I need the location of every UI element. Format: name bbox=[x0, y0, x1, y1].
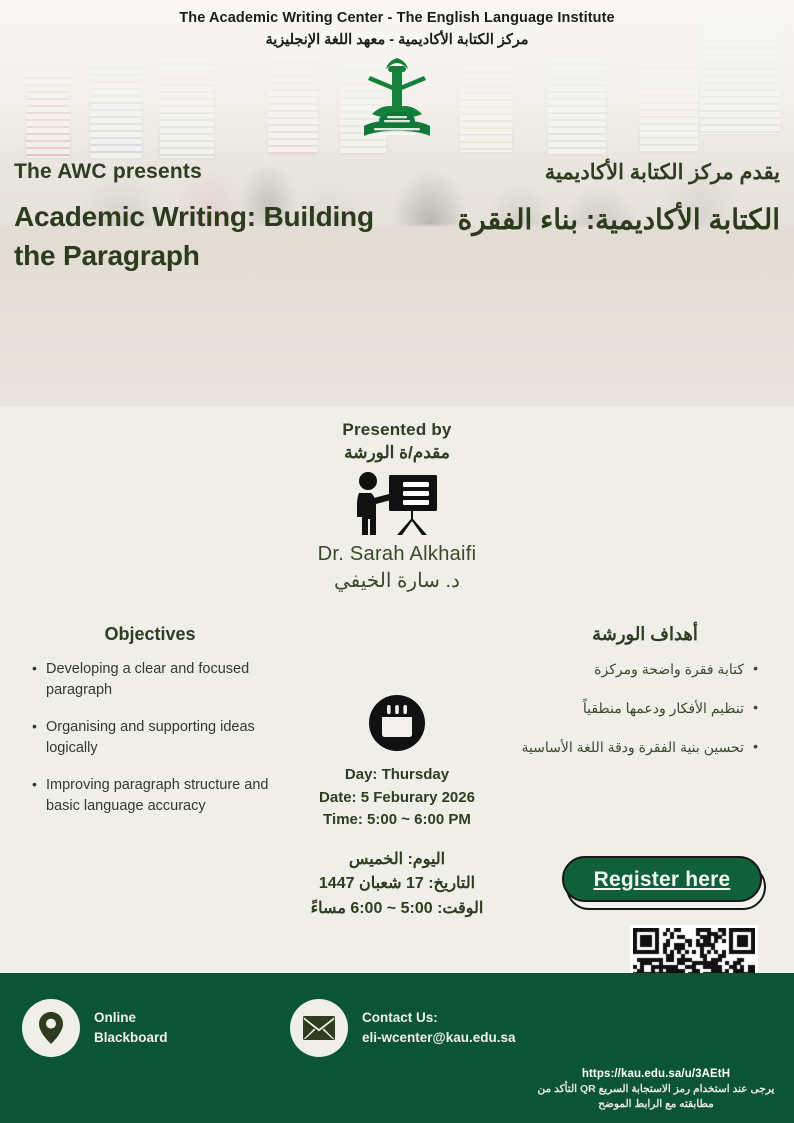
map-pin-icon bbox=[22, 999, 80, 1057]
hero-text-ar: يقدم مركز الكتابة الأكاديمية الكتابة الأ… bbox=[450, 160, 780, 240]
time-en: Time: 5:00 ~ 6:00 PM bbox=[267, 809, 527, 832]
objective-item: Improving paragraph structure and basic … bbox=[32, 775, 276, 817]
presented-by-label-ar: مقدم/ة الورشة bbox=[0, 443, 794, 463]
poster-body: Presented by مقدم/ة الورشة Dr. Sarah Alk… bbox=[0, 406, 794, 973]
objective-item: تنظيم الأفكار ودعمها منطقياً bbox=[514, 698, 758, 719]
poster-footer: Online Blackboard Contact Us: eli-wcente… bbox=[0, 973, 794, 1123]
envelope-icon bbox=[290, 999, 348, 1057]
presents-label-ar: يقدم مركز الكتابة الأكاديمية bbox=[450, 160, 780, 185]
register-button-wrapper: Register here bbox=[562, 856, 772, 902]
contact-email[interactable]: eli-wcenter@kau.edu.sa bbox=[362, 1028, 515, 1048]
objective-item: Organising and supporting ideas logicall… bbox=[32, 717, 276, 759]
location-info: Online Blackboard bbox=[22, 999, 168, 1057]
objectives-en-section: Objectives Developing a clear and focuse… bbox=[14, 624, 276, 833]
register-button[interactable]: Register here bbox=[562, 856, 762, 902]
qr-note-block: https://kau.edu.sa/u/3AEtH يرجى عند استخ… bbox=[536, 1068, 776, 1112]
objectives-title-ar: أهداف الورشة bbox=[514, 624, 776, 645]
objectives-list-en: Developing a clear and focused paragraph… bbox=[14, 659, 276, 817]
objective-item: تحسين بنية الفقرة ودقة اللغة الأساسية bbox=[514, 737, 758, 758]
schedule-block: Day: Thursday Date: 5 Feburary 2026 Time… bbox=[267, 694, 527, 922]
qr-verification-note-ar: يرجى عند استخدام رمز الاستجابة السريع QR… bbox=[536, 1082, 776, 1112]
schedule-en: Day: Thursday Date: 5 Feburary 2026 Time… bbox=[267, 764, 527, 832]
hero-banner: The Academic Writing Center - The Englis… bbox=[0, 0, 794, 406]
contact-label: Contact Us: bbox=[362, 1008, 515, 1028]
time-ar: الوقت: 5:00 ~ 6:00 مساءً bbox=[267, 897, 527, 922]
objectives-title-en: Objectives bbox=[14, 624, 276, 645]
presenter-name-ar: د. سارة الخيفي bbox=[0, 568, 794, 593]
date-ar: التاريخ: 17 شعبان 1447 bbox=[267, 872, 527, 897]
location-text: Online Blackboard bbox=[94, 1008, 168, 1047]
hero-text-en: The AWC presents Academic Writing: Build… bbox=[14, 160, 374, 275]
workshop-title-ar: الكتابة الأكاديمية: بناء الفقرة bbox=[450, 199, 780, 240]
presented-by-label-en: Presented by bbox=[0, 420, 794, 440]
schedule-ar: اليوم: الخميس التاريخ: 17 شعبان 1447 الو… bbox=[267, 848, 527, 922]
day-ar: اليوم: الخميس bbox=[267, 848, 527, 873]
contact-text: Contact Us: eli-wcenter@kau.edu.sa bbox=[362, 1008, 515, 1047]
location-line-1: Online bbox=[94, 1008, 168, 1028]
presents-label-en: The AWC presents bbox=[14, 160, 374, 184]
date-en: Date: 5 Feburary 2026 bbox=[267, 787, 527, 810]
objective-item: Developing a clear and focused paragraph bbox=[32, 659, 276, 701]
organization-title-en: The Academic Writing Center - The Englis… bbox=[0, 10, 794, 26]
registration-url[interactable]: https://kau.edu.sa/u/3AEtH bbox=[536, 1068, 776, 1080]
presenter-block: Presented by مقدم/ة الورشة Dr. Sarah Alk… bbox=[0, 420, 794, 593]
objective-item: كتابة فقرة واضحة ومركزة bbox=[514, 659, 758, 680]
day-en: Day: Thursday bbox=[267, 764, 527, 787]
king-abdulaziz-university-logo bbox=[354, 56, 440, 144]
objectives-list-ar: كتابة فقرة واضحة ومركزة تنظيم الأفكار ود… bbox=[514, 659, 776, 758]
workshop-title-en: Academic Writing: Building the Paragraph bbox=[14, 198, 374, 275]
location-line-2: Blackboard bbox=[94, 1028, 168, 1048]
contact-info: Contact Us: eli-wcenter@kau.edu.sa bbox=[290, 999, 515, 1057]
calendar-icon bbox=[368, 694, 426, 752]
organization-title-ar: مركز الكتابة الأكاديمية - معهد اللغة الإ… bbox=[0, 32, 794, 48]
objectives-ar-section: أهداف الورشة كتابة فقرة واضحة ومركزة تنظ… bbox=[514, 624, 776, 776]
presenter-name-en: Dr. Sarah Alkhaifi bbox=[0, 543, 794, 566]
workshop-poster: The Academic Writing Center - The Englis… bbox=[0, 0, 794, 1123]
presenter-whiteboard-icon bbox=[349, 471, 445, 537]
